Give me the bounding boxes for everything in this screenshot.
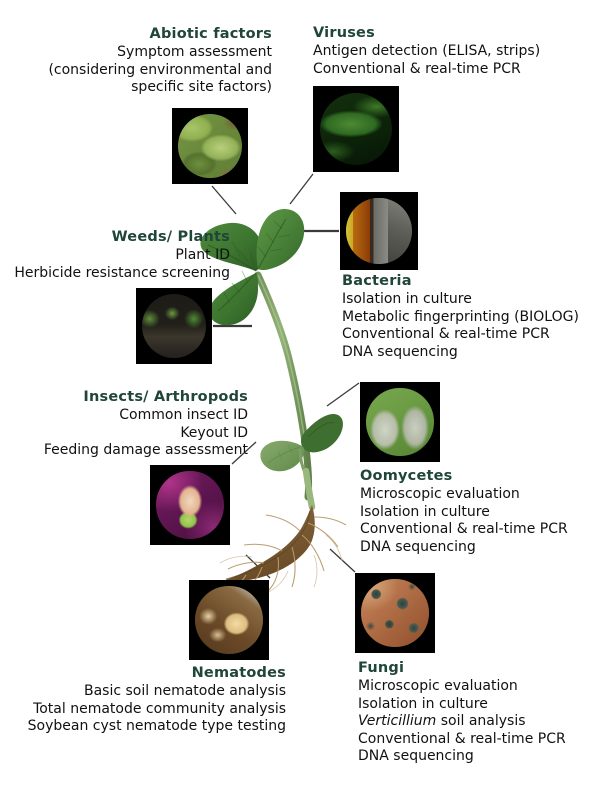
line-insects-1: Keyout ID	[0, 425, 248, 443]
line-bacteria-1: Metabolic fingerprinting (BIOLOG)	[342, 309, 579, 327]
label-group-abiotic: Abiotic factors Symptom assessment (cons…	[0, 25, 272, 97]
oomycete-leaf-photo	[360, 382, 440, 462]
insect-micrograph-photo	[150, 465, 230, 545]
line-oomycetes-1: Isolation in culture	[360, 504, 568, 522]
line-nematodes-0: Basic soil nematode analysis	[0, 683, 286, 701]
heading-nematodes: Nematodes	[0, 664, 286, 682]
plant-leaf-top	[257, 209, 305, 270]
line-viruses-0: Antigen detection (ELISA, strips)	[313, 43, 540, 61]
line-insects-0: Common insect ID	[0, 407, 248, 425]
bacteria-culture-photo	[340, 192, 418, 270]
line-abiotic-1: (considering environmental and	[0, 62, 272, 80]
line-bacteria-2: Conventional & real-time PCR	[342, 326, 579, 344]
label-group-nematodes: Nematodes Basic soil nematode analysis T…	[0, 664, 286, 736]
nematode-cyst-photo	[189, 580, 269, 660]
line-oomycetes-3: DNA sequencing	[360, 539, 568, 557]
label-group-fungi: Fungi Microscopic evaluation Isolation i…	[358, 659, 566, 766]
heading-fungi: Fungi	[358, 659, 566, 677]
heading-bacteria: Bacteria	[342, 272, 579, 290]
line-fungi-2-rest: soil analysis	[436, 713, 525, 729]
insect-micrograph-photo-disc	[156, 471, 223, 538]
line-bacteria-3: DNA sequencing	[342, 344, 579, 362]
label-group-bacteria: Bacteria Isolation in culture Metabolic …	[342, 272, 579, 361]
weeds-pots-photo	[136, 288, 212, 364]
line-fungi-3: Conventional & real-time PCR	[358, 731, 566, 749]
label-group-weeds: Weeds/ Plants Plant ID Herbicide resista…	[0, 228, 230, 282]
virus-leaf-photo	[313, 86, 399, 172]
line-nematodes-2: Soybean cyst nematode type testing	[0, 718, 286, 736]
line-abiotic-2: specific site factors)	[0, 79, 272, 97]
line-fungi-1: Isolation in culture	[358, 696, 566, 714]
heading-viruses: Viruses	[313, 24, 540, 42]
fungi-culture-photo-disc	[361, 579, 428, 646]
line-viruses-1: Conventional & real-time PCR	[313, 61, 540, 79]
line-abiotic-0: Symptom assessment	[0, 44, 272, 62]
weeds-pots-photo-disc	[142, 294, 206, 358]
heading-oomycetes: Oomycetes	[360, 467, 568, 485]
virus-leaf-photo-disc	[320, 93, 392, 165]
line-bacteria-0: Isolation in culture	[342, 291, 579, 309]
line-fungi-2: Verticillium soil analysis	[358, 713, 566, 731]
heading-abiotic: Abiotic factors	[0, 25, 272, 43]
line-nematodes-1: Total nematode community analysis	[0, 701, 286, 719]
abiotic-leaf-photo-disc	[178, 114, 242, 178]
heading-weeds: Weeds/ Plants	[0, 228, 230, 246]
fungi-culture-photo	[355, 573, 435, 653]
oomycete-leaf-photo-disc	[366, 388, 433, 455]
connector-viruses	[290, 174, 313, 204]
heading-insects: Insects/ Arthropods	[0, 388, 248, 406]
label-group-oomycetes: Oomycetes Microscopic evaluation Isolati…	[360, 467, 568, 556]
line-oomycetes-2: Conventional & real-time PCR	[360, 521, 568, 539]
label-group-viruses: Viruses Antigen detection (ELISA, strips…	[313, 24, 540, 78]
abiotic-leaf-photo	[172, 108, 248, 184]
label-group-insects: Insects/ Arthropods Common insect ID Key…	[0, 388, 248, 460]
diagram-canvas: Abiotic factors Symptom assessment (cons…	[0, 0, 600, 800]
bacteria-culture-photo-disc	[346, 198, 412, 264]
line-fungi-2-italic: Verticillium	[358, 713, 436, 729]
line-fungi-0: Microscopic evaluation	[358, 678, 566, 696]
line-insects-2: Feeding damage assessment	[0, 442, 248, 460]
nematode-cyst-photo-disc	[195, 586, 262, 653]
line-fungi-4: DNA sequencing	[358, 748, 566, 766]
line-weeds-1: Herbicide resistance screening	[0, 265, 230, 283]
line-oomycetes-0: Microscopic evaluation	[360, 486, 568, 504]
line-weeds-0: Plant ID	[0, 247, 230, 265]
